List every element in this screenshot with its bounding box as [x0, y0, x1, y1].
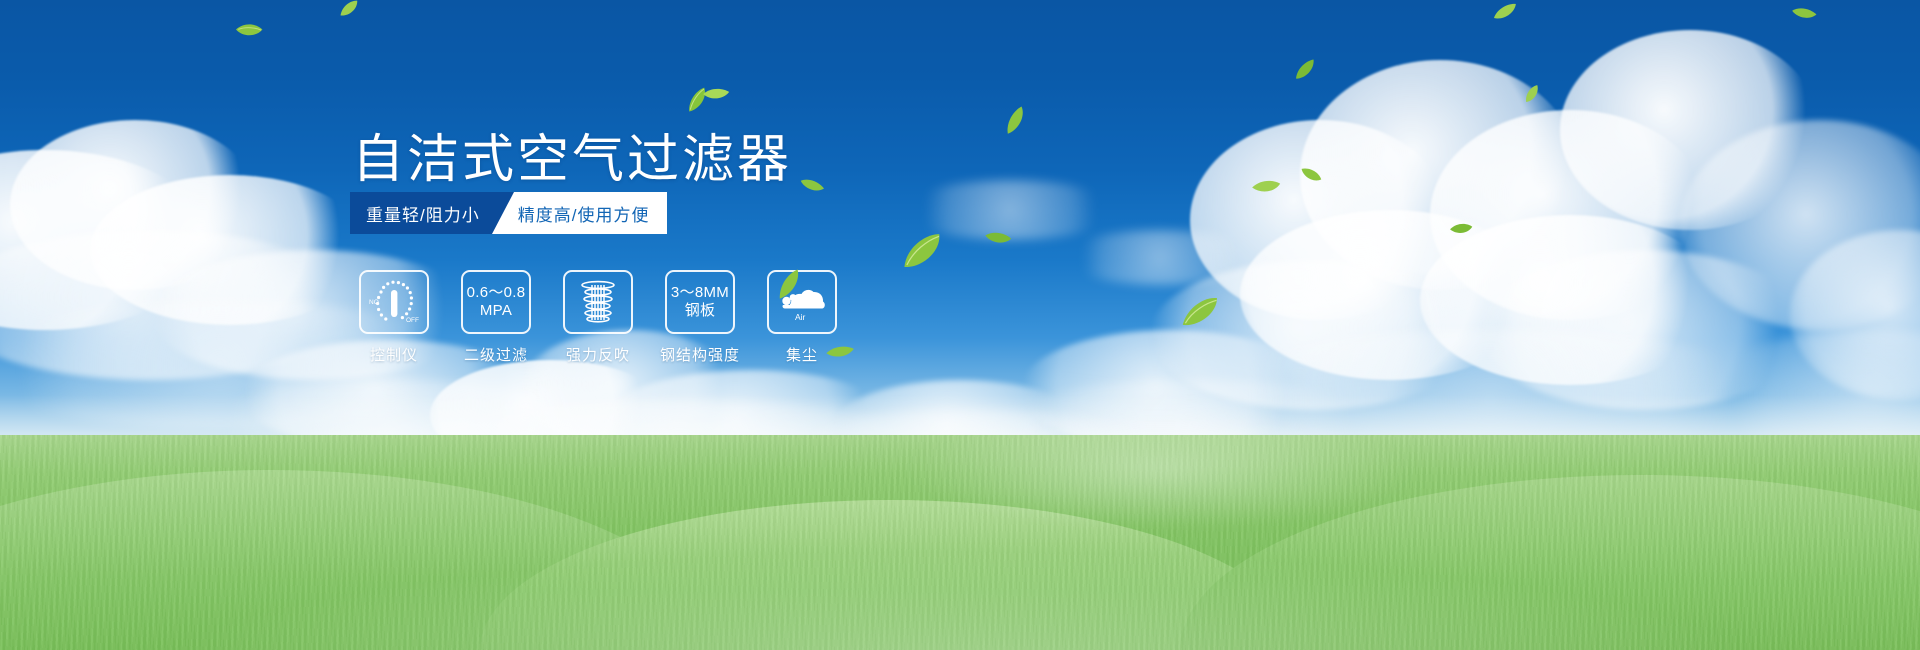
feature-label: 强力反吹 [566, 344, 630, 365]
feature-item[interactable]: 3〜8MM 钢板 钢结构强度 [664, 270, 736, 365]
feature-label: 二级过滤 [464, 344, 528, 365]
feature-item[interactable]: 0.6〜0.8 MPA 二级过滤 [460, 270, 532, 365]
pressure-text-icon: 0.6〜0.8 MPA [461, 270, 531, 334]
blowback-coil-icon [563, 270, 633, 334]
product-banner: 自洁式空气过滤器 重量轻/阻力小 精度高/使用方便 [0, 0, 1920, 650]
page-title: 自洁式空气过滤器 [352, 117, 792, 192]
feature-label: 控制仪 [370, 344, 418, 365]
banner-content: 自洁式空气过滤器 重量轻/阻力小 精度高/使用方便 [0, 0, 1920, 650]
control-dial-icon: NO OFF [359, 270, 429, 334]
tagline-primary: 重量轻/阻力小 [350, 192, 514, 234]
air-label: Air [795, 312, 806, 322]
steel-plate-text-icon: 3〜8MM 钢板 [665, 270, 735, 334]
feature-item[interactable]: 强力反吹 [562, 270, 634, 365]
dial-label-off: OFF [406, 317, 419, 324]
feature-item[interactable]: NO OFF 控制仪 [358, 270, 430, 365]
feature-label: 钢结构强度 [660, 344, 740, 365]
steel-thickness: 3〜8MM [671, 284, 729, 302]
pressure-value: 0.6〜0.8 [467, 284, 526, 302]
feature-list: NO OFF 控制仪 0.6〜0.8 MPA 二级过滤 [358, 270, 838, 365]
pressure-unit: MPA [480, 302, 512, 320]
steel-material: 钢板 [685, 302, 716, 320]
feature-label: 集尘 [786, 344, 818, 365]
tagline-secondary: 精度高/使用方便 [492, 192, 668, 234]
tagline-group: 重量轻/阻力小 精度高/使用方便 [350, 192, 667, 234]
dial-label-no: NO [369, 299, 379, 306]
